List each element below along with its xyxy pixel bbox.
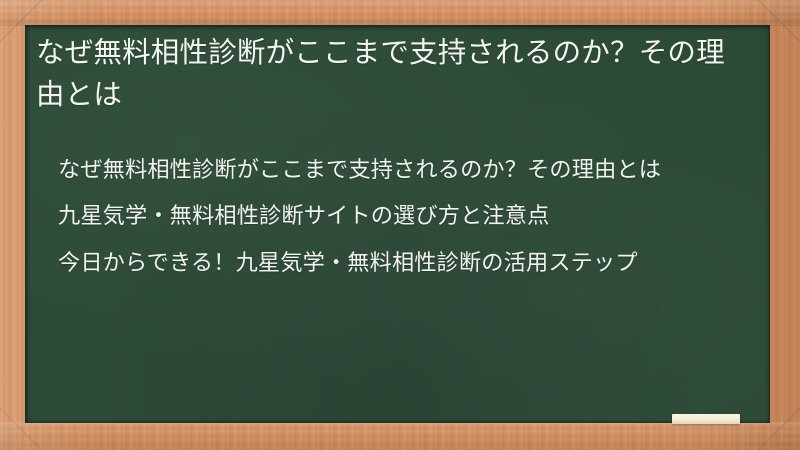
list-item: 九星気学・無料相性診断サイトの選び方と注意点 [58,199,748,232]
list-item: なぜ無料相性診断がここまで支持されるのか？その理由とは [58,153,748,186]
chalk-stick-icon [672,414,740,424]
chalkboard-surface: なぜ無料相性診断がここまで支持されるのか？その理由とは なぜ無料相性診断がここま… [25,25,770,423]
wood-top-rail-grain [0,0,800,26]
page-title: なぜ無料相性診断がここまで支持されるのか？その理由とは [36,32,748,116]
chalkboard-content: なぜ無料相性診断がここまで支持されるのか？その理由とは なぜ無料相性診断がここま… [25,25,770,423]
chalkboard-wood-frame: なぜ無料相性診断がここまで支持されるのか？その理由とは なぜ無料相性診断がここま… [0,0,800,450]
wood-bottom-rail-grain [0,422,800,450]
article-outline-list: なぜ無料相性診断がここまで支持されるのか？その理由とは 九星気学・無料相性診断サ… [58,153,748,279]
list-item: 今日からできる！九星気学・無料相性診断の活用ステップ [58,246,748,279]
